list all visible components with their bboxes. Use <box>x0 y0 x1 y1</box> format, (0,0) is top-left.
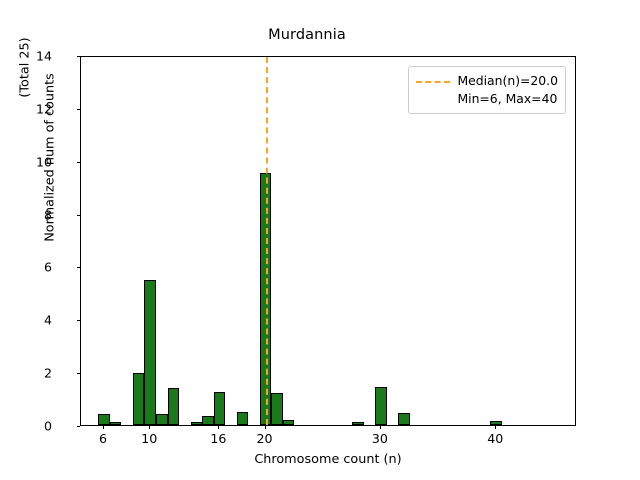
y-tick-label: 6 <box>12 260 52 275</box>
x-tick-mark <box>380 426 381 430</box>
x-tick-label: 20 <box>245 431 285 446</box>
bar <box>490 421 502 425</box>
bar <box>352 422 364 425</box>
bar <box>283 420 295 425</box>
median-line <box>266 57 268 425</box>
x-tick-label: 30 <box>360 431 400 446</box>
chart-legend: Median(n)=20.0 Min=6, Max=40 <box>408 66 566 114</box>
x-tick-label: 6 <box>83 431 123 446</box>
y-tick-label: 4 <box>12 313 52 328</box>
bar <box>144 280 156 425</box>
chart-title: Murdannia <box>0 27 640 43</box>
legend-label-minmax: Min=6, Max=40 <box>457 90 557 108</box>
plot-area: Median(n)=20.0 Min=6, Max=40 <box>80 56 576 426</box>
bar <box>110 422 122 425</box>
y-tick-label: 14 <box>12 49 52 64</box>
y-tick-label: 0 <box>12 419 52 434</box>
x-tick-mark <box>265 426 266 430</box>
dashed-line-icon <box>416 75 450 87</box>
x-tick-label: 10 <box>129 431 169 446</box>
bar <box>271 393 283 425</box>
bar <box>202 416 214 425</box>
y-tick-label: 2 <box>12 366 52 381</box>
chart-figure: Murdannia Normalized num of counts (Tota… <box>0 0 640 480</box>
x-tick-label: 40 <box>475 431 515 446</box>
y-tick-label: 8 <box>12 207 52 222</box>
bar <box>375 387 387 425</box>
legend-item-median: Median(n)=20.0 <box>416 72 558 90</box>
y-tick-label: 10 <box>12 154 52 169</box>
blank-swatch-icon <box>416 93 450 105</box>
bar <box>191 422 203 425</box>
chart-title-text: Murdannia <box>268 27 346 43</box>
bar <box>398 413 410 425</box>
bar <box>133 373 145 425</box>
bar <box>214 392 226 425</box>
bar <box>237 412 249 425</box>
bar <box>156 414 168 425</box>
x-axis-label: Chromosome count (n) <box>80 452 576 467</box>
x-tick-mark <box>103 426 104 430</box>
x-tick-mark <box>149 426 150 430</box>
legend-item-minmax: Min=6, Max=40 <box>416 90 558 108</box>
y-tick-mark <box>77 426 81 427</box>
bar <box>168 388 180 425</box>
bar <box>98 414 110 425</box>
y-tick-label: 12 <box>12 101 52 116</box>
x-tick-mark <box>495 426 496 430</box>
x-tick-label: 16 <box>198 431 238 446</box>
legend-label-median: Median(n)=20.0 <box>457 72 558 90</box>
x-tick-mark <box>218 426 219 430</box>
